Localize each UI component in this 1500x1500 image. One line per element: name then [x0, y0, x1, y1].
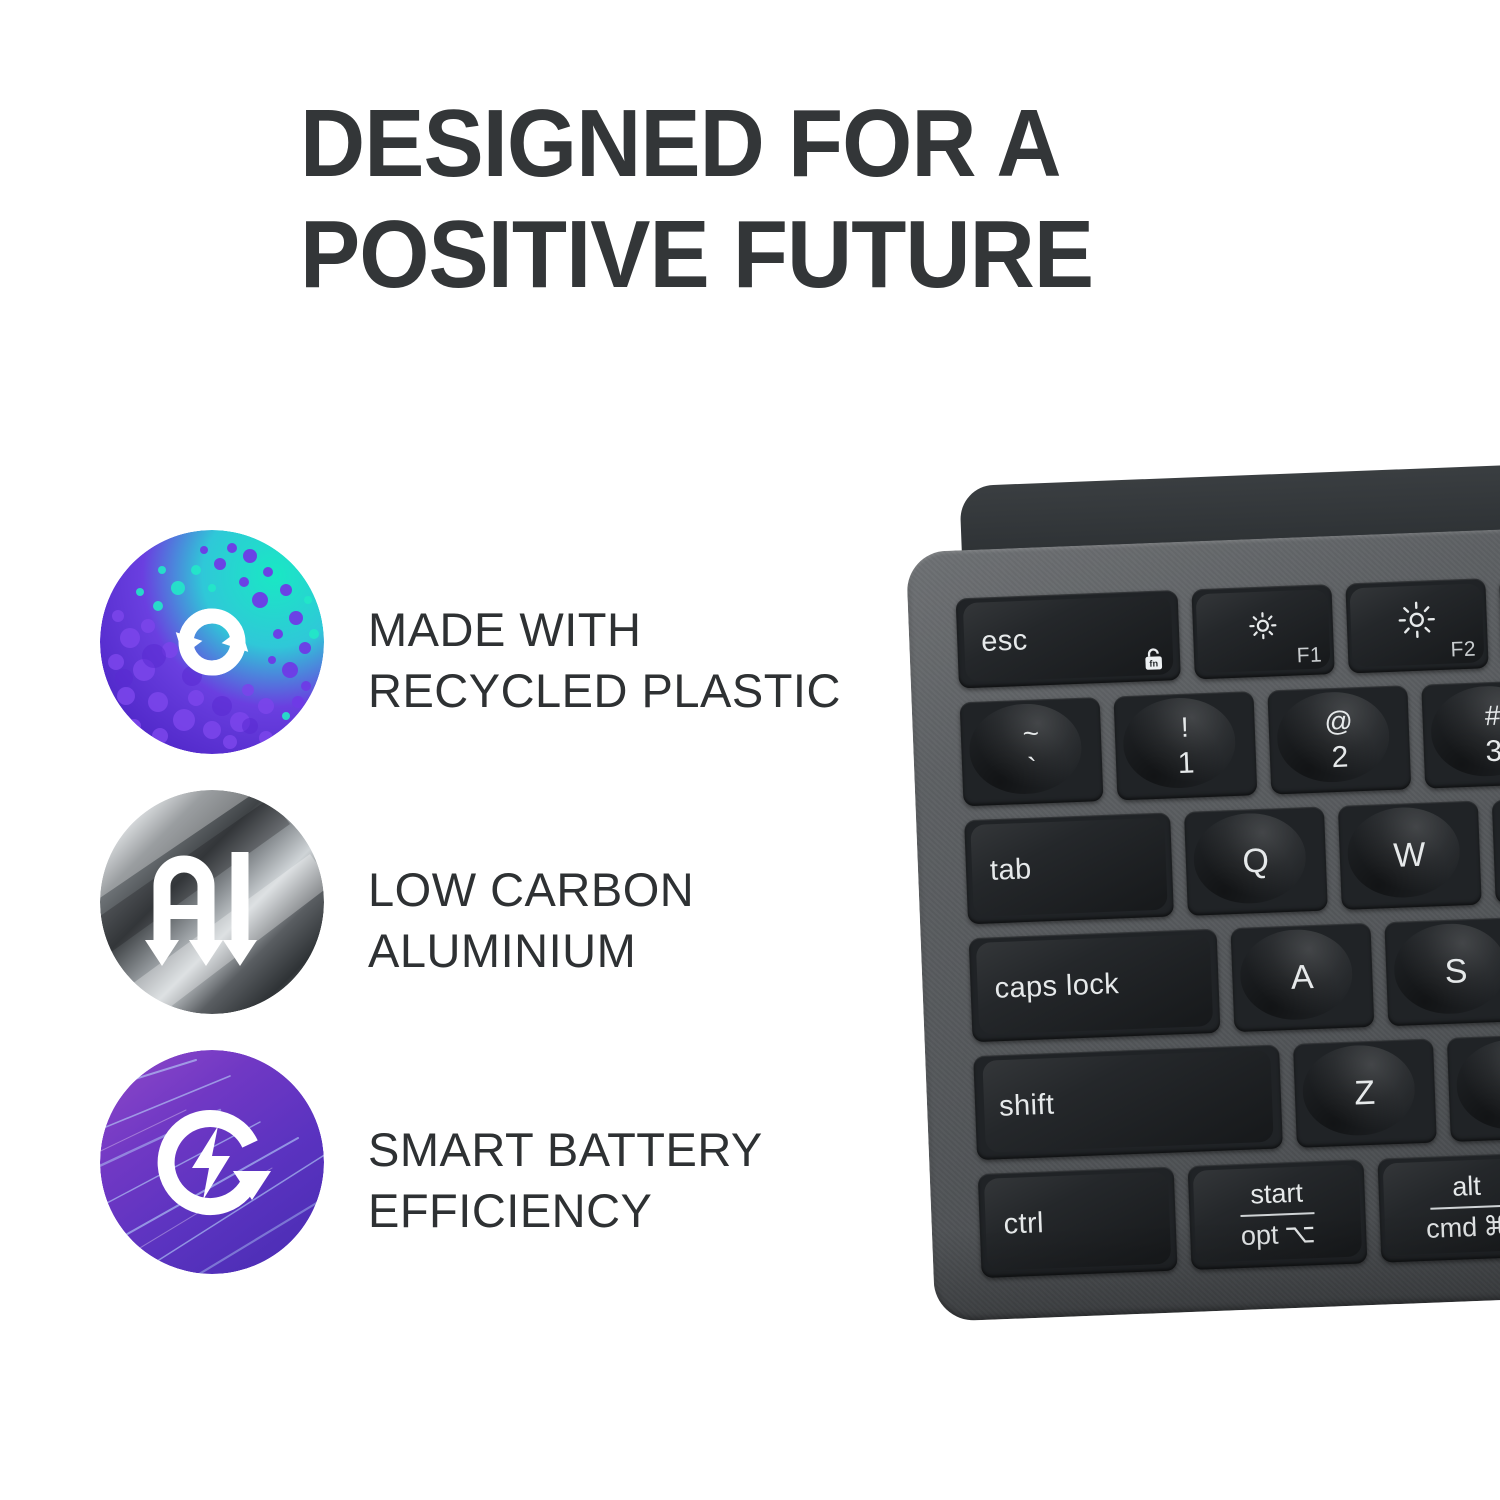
aluminium-down-arrows-icon: [100, 790, 324, 1014]
key-start-opt[interactable]: start opt ⌥: [1188, 1159, 1368, 1270]
keyboard-shift-row: shift Z X C: [973, 1027, 1500, 1160]
keyboard-number-row: ~ ` ! 1 @ 2: [960, 673, 1500, 806]
feature-list: MADE WITH RECYCLED PLASTIC: [100, 530, 880, 1310]
key-backtick[interactable]: ~ `: [960, 697, 1104, 806]
key-f2[interactable]: F2: [1345, 578, 1488, 673]
key-shift[interactable]: shift: [973, 1044, 1283, 1160]
keyboard-product-image: esc fn: [880, 430, 1500, 1410]
key-w[interactable]: W: [1338, 801, 1482, 910]
key-ctrl[interactable]: ctrl: [978, 1167, 1178, 1278]
key-q[interactable]: Q: [1184, 807, 1328, 916]
feature-label-low-carbon-aluminium: LOW CARBON ALUMINIUM: [368, 859, 694, 981]
feature-label-recycled-plastic: MADE WITH RECYCLED PLASTIC: [368, 599, 841, 721]
key-esc[interactable]: esc fn: [956, 590, 1181, 688]
battery-recharge-bolt-icon: [100, 1050, 324, 1274]
key-e[interactable]: E: [1492, 795, 1500, 904]
keyboard-qwerty-row: tab Q W E R: [964, 789, 1500, 924]
key-z[interactable]: Z: [1293, 1038, 1437, 1147]
option-symbol-icon: ⌥: [1284, 1218, 1316, 1250]
key-f1[interactable]: F1: [1191, 584, 1334, 679]
key-3[interactable]: # 3: [1421, 679, 1500, 788]
headline-line-1: DESIGNED FOR A: [300, 88, 1296, 199]
feature-item-smart-battery-efficiency: SMART BATTERY EFFICIENCY: [100, 1050, 880, 1310]
svg-text:fn: fn: [1149, 658, 1158, 668]
feature-label-smart-battery-efficiency: SMART BATTERY EFFICIENCY: [368, 1119, 763, 1241]
feature-item-recycled-plastic: MADE WITH RECYCLED PLASTIC: [100, 530, 880, 790]
key-s[interactable]: S: [1384, 917, 1500, 1026]
key-a[interactable]: A: [1230, 923, 1374, 1032]
key-1[interactable]: ! 1: [1113, 691, 1257, 800]
keyboard-function-row: esc fn: [956, 572, 1500, 688]
headline-line-2: POSITIVE FUTURE: [300, 199, 1296, 310]
keyboard-body: esc fn: [906, 523, 1500, 1322]
keyboard-home-row: caps lock A S D F: [969, 905, 1500, 1042]
key-2[interactable]: @ 2: [1267, 685, 1411, 794]
page-title: DESIGNED FOR A POSITIVE FUTURE: [300, 88, 1296, 311]
key-alt-cmd[interactable]: alt cmd ⌘: [1377, 1152, 1500, 1263]
fn-lock-icon: fn: [1140, 645, 1168, 673]
keyboard-modifier-row: ctrl start opt ⌥ alt: [978, 1146, 1500, 1278]
key-tab[interactable]: tab: [964, 812, 1174, 924]
key-x[interactable]: X: [1447, 1033, 1500, 1142]
recycle-loop-icon: [100, 530, 324, 754]
feature-item-low-carbon-aluminium: LOW CARBON ALUMINIUM: [100, 790, 880, 1050]
key-caps-lock[interactable]: caps lock: [969, 929, 1221, 1042]
command-symbol-icon: ⌘: [1483, 1210, 1500, 1242]
